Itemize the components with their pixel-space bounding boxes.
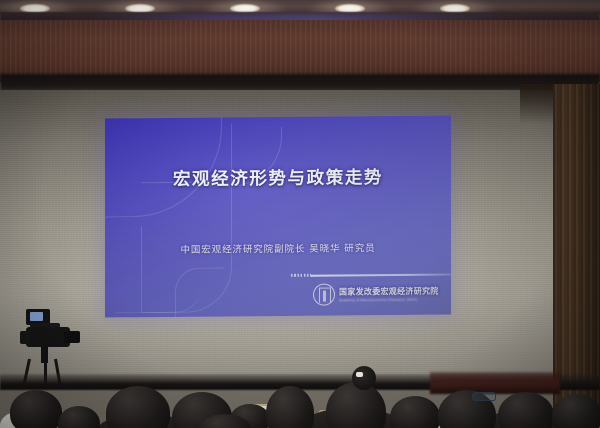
attendee-glasses [472,392,496,401]
attendee-head [266,386,314,428]
slide-logo-text: 国家发改委宏观经济研究院 Academy of Macroeconomic Re… [339,285,451,302]
attendee-head [552,394,600,428]
photograph-scene: 宏观经济形势与政策走势 中国宏观经济研究院副院长 吴晓华 研究员 国家发改委宏观… [0,0,600,428]
projected-slide: 宏观经济形势与政策走势 中国宏观经济研究院副院长 吴晓华 研究员 国家发改委宏观… [105,115,451,317]
attendee-head [106,386,170,428]
attendee-head [498,392,554,428]
slide-rule-dots [291,274,311,277]
slide-decoration-curve-5 [175,267,224,317]
slide-logo-organization-en: Academy of Macroeconomic Research, NDRC [339,297,451,302]
attendee-head [10,390,62,428]
slide-logo: 国家发改委宏观经济研究院 Academy of Macroeconomic Re… [313,281,451,306]
camera-monitor-screen [30,312,43,321]
audience [0,352,600,428]
upper-wall-panel [0,20,600,82]
attendee-head [390,396,440,428]
institute-emblem-icon [313,284,335,306]
attendee-hair-clip [356,372,363,377]
slide-title: 宏观经济形势与政策走势 [105,163,451,191]
attendee-head [58,406,100,428]
attendee-head [326,382,386,428]
camera-lens [64,331,80,343]
slide-logo-organization-cn: 国家发改委宏观经济研究院 [339,285,451,297]
attendee-hair-bun [352,366,376,390]
camera-viewfinder [20,331,30,344]
